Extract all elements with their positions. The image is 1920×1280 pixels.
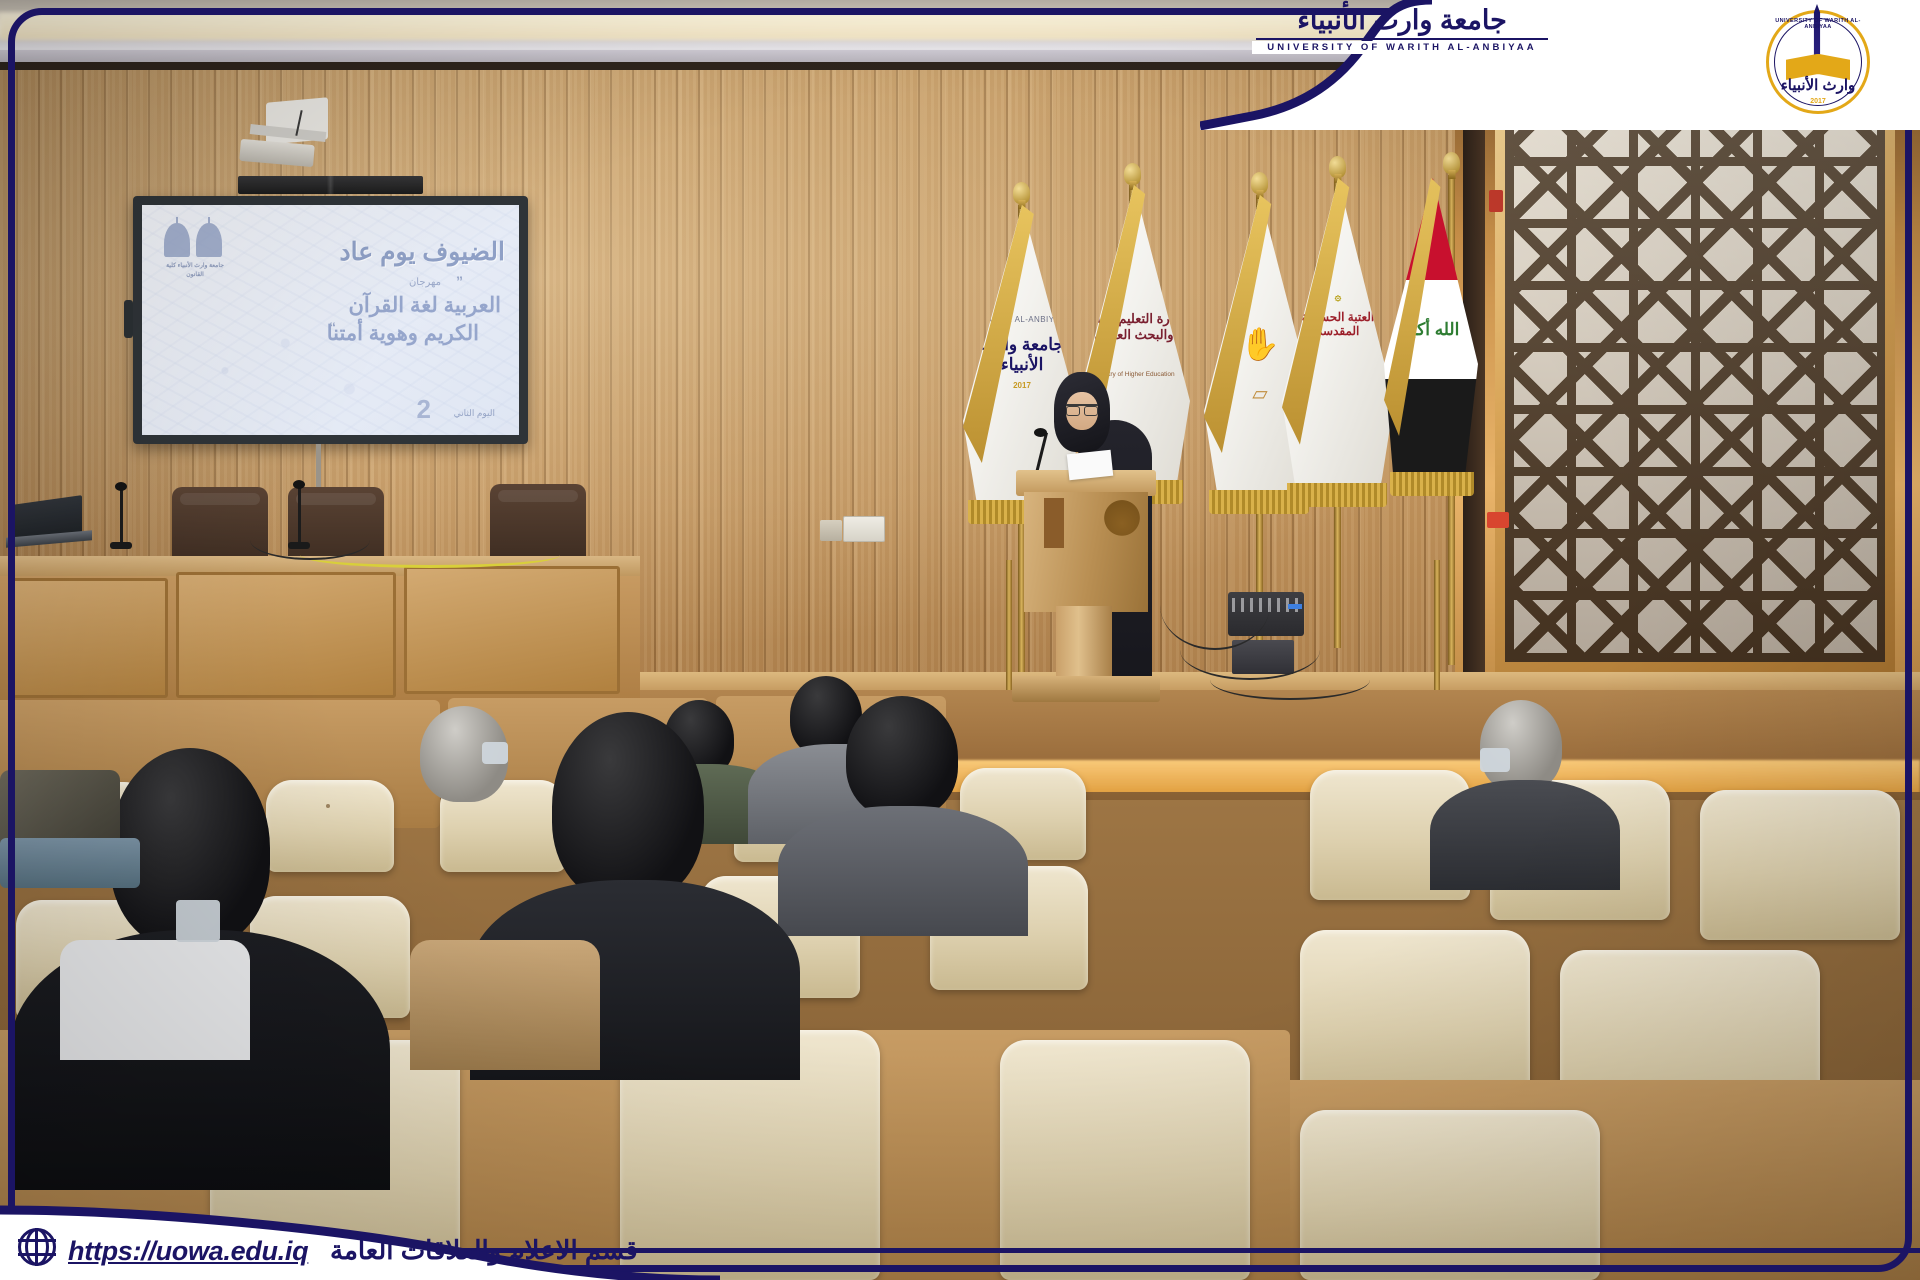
desk-microphone-2-head xyxy=(293,480,305,489)
head-table-panel-1 xyxy=(8,578,168,698)
desk-microphone-1-head xyxy=(115,482,127,491)
seat-cushion xyxy=(266,780,394,872)
floor-stand-pole-2 xyxy=(1434,560,1440,690)
quote-close-mark: “ xyxy=(329,319,336,335)
fire-alarm-call-point-icon xyxy=(1487,512,1509,528)
screen-surface: جامعة وارث الأنبياء كلية القانون الضيوف … xyxy=(142,205,519,435)
screen-logo xyxy=(164,223,222,257)
screen-day-label: اليوم الثاني xyxy=(454,408,495,419)
flag-finial-3 xyxy=(1251,172,1268,194)
podium-microphone-head xyxy=(1034,428,1047,437)
flag-4-fringe xyxy=(1287,483,1387,507)
wall-socket-plate xyxy=(843,516,885,542)
chair-highlight xyxy=(296,493,376,505)
website-url-link[interactable]: https://uowa.edu.iq xyxy=(68,1236,308,1267)
audience-member-head xyxy=(846,696,958,818)
soundbar-highlight xyxy=(238,176,423,194)
black-cable xyxy=(250,520,370,560)
lattice-shading xyxy=(1505,92,1885,662)
face-mask xyxy=(1480,748,1510,772)
university-crest-icon: UNIVERSITY OF WARITH AL-ANBIYAA وارث الأ… xyxy=(1758,4,1878,116)
speaker-eyeglasses xyxy=(1066,404,1098,412)
ceiling-projector xyxy=(236,100,346,162)
audience-seat xyxy=(1300,1110,1600,1280)
screen-headline-line2: الكريم وهوية أمتنا xyxy=(327,321,479,346)
floor-stand-pole xyxy=(1006,560,1012,690)
audience-member-shoulders xyxy=(778,806,1028,936)
stage-chair-1 xyxy=(172,487,268,567)
mosque-dome-icon xyxy=(164,223,190,257)
podium-inlay-panel xyxy=(1044,498,1064,548)
flag-5-fringe xyxy=(1390,472,1474,496)
screen-title: الضيوف يوم عاد xyxy=(339,237,505,267)
seat-cushion xyxy=(1300,1110,1600,1280)
audience-member-head xyxy=(1480,700,1562,792)
audience-member-collar xyxy=(60,940,250,1060)
globe-icon xyxy=(18,1228,56,1266)
crest-text-en: UNIVERSITY OF WARITH AL-ANBIYAA xyxy=(1764,18,1872,30)
podium-stem xyxy=(1056,606,1112,686)
screen-day-number: 2 xyxy=(417,394,431,425)
speaker-papers xyxy=(1067,450,1113,480)
desk-microphone-1-base xyxy=(110,542,132,549)
flag-finial-5 xyxy=(1443,152,1460,174)
flag-finial-2 xyxy=(1124,163,1141,185)
desk-microphone-1-stem xyxy=(120,488,123,544)
face-mask xyxy=(482,742,508,764)
podium-base xyxy=(1012,676,1160,702)
audience-seat xyxy=(266,780,394,872)
wordmark-english: UNIVERSITY OF WARITH AL-ANBIYAA xyxy=(1252,41,1552,54)
seat-cushion xyxy=(1700,790,1900,940)
department-label: قسم الاعلام والعلاقات العامة xyxy=(330,1235,638,1266)
chair-highlight xyxy=(498,490,578,502)
wall-socket-left xyxy=(820,520,842,541)
cable-3 xyxy=(1210,660,1370,700)
audience-member-garment xyxy=(0,838,140,888)
podium-university-crest-icon xyxy=(1100,500,1144,556)
audience-seat xyxy=(1700,790,1900,940)
wordmark-arabic: جامعة وارث الأنبياء xyxy=(1252,6,1552,36)
event-photograph: جامعة وارث الأنبياء كلية القانون الضيوف … xyxy=(0,0,1920,1280)
fire-alarm-icon xyxy=(1489,190,1503,212)
audience-member-seated xyxy=(410,940,600,1070)
globe-meridian xyxy=(25,1228,49,1266)
audience-member-head xyxy=(552,712,704,902)
wordmark-rule xyxy=(1256,38,1548,40)
seat-stud xyxy=(326,804,330,808)
screen-headline-line1: العربية لغة القرآن xyxy=(348,293,501,318)
head-table-panel-2 xyxy=(176,572,396,698)
crest-text-ar: وارث الأنبياء xyxy=(1764,76,1872,94)
quote-open-mark: ” xyxy=(456,273,463,289)
screen-festival-label: مهرجان xyxy=(409,277,441,288)
flag-finial-4 xyxy=(1329,156,1346,178)
flag-finial-1 xyxy=(1013,182,1030,204)
audience-member-shoulders xyxy=(1430,780,1620,890)
screen-logo-caption: جامعة وارث الأنبياء كلية القانون xyxy=(164,262,226,280)
scales-dome-icon xyxy=(196,223,222,257)
university-wordmark: جامعة وارث الأنبياء UNIVERSITY OF WARITH… xyxy=(1252,6,1552,54)
head-table-panel-3 xyxy=(404,566,620,694)
presentation-screen: جامعة وارث الأنبياء كلية القانون الضيوف … xyxy=(133,196,528,444)
mixer-led-icon xyxy=(1288,604,1302,609)
screen-side-button xyxy=(124,300,133,338)
crest-year: 2017 xyxy=(1764,98,1872,105)
face-mask xyxy=(176,900,220,942)
screenshot-root: جامعة وارث الأنبياء كلية القانون الضيوف … xyxy=(0,0,1920,1280)
chair-highlight xyxy=(180,493,260,505)
